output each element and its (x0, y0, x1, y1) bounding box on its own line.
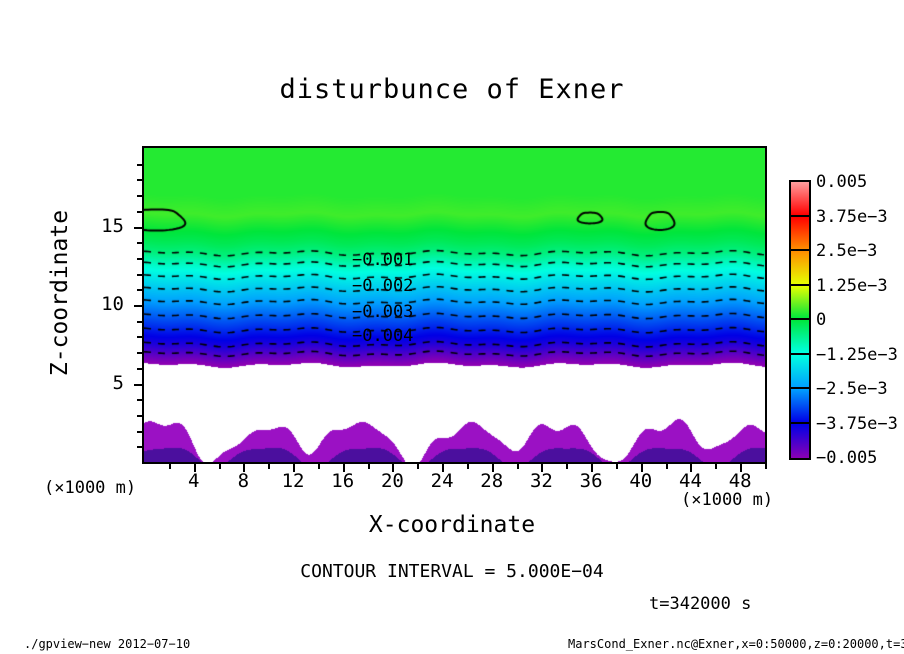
y-tick-minor (137, 431, 142, 433)
page-title: disturbunce of Exner (0, 74, 904, 105)
y-tick-minor (137, 164, 142, 166)
colorbar-tick-label: −0.005 (816, 448, 877, 468)
footer-source-text: MarsCond_Exner.nc@Exner,x=0:50000,z=0:20… (568, 637, 904, 651)
y-tick-label: 15 (78, 215, 124, 237)
contour-field-canvas (144, 148, 765, 462)
colorbar-tick-label: −3.75e−3 (816, 414, 898, 434)
colorbar (789, 180, 811, 460)
colorbar-tick-label: −1.25e−3 (816, 345, 898, 365)
colorbar-segment (791, 286, 809, 321)
x-units-label-right: (×1000 m) (681, 490, 773, 510)
x-tick-minor (616, 464, 618, 469)
y-axis-title: Z-coordinate (47, 193, 73, 393)
y-tick-major (134, 305, 142, 307)
contour-interval-text: CONTOUR INTERVAL = 5.000E−04 (0, 561, 904, 582)
x-tick-label: 16 (318, 470, 368, 492)
y-tick-minor (137, 258, 142, 260)
x-tick-minor (169, 464, 171, 469)
x-axis-title: X-coordinate (0, 512, 904, 538)
x-tick-label: 44 (665, 470, 715, 492)
x-tick-label: 32 (516, 470, 566, 492)
y-tick-minor (137, 211, 142, 213)
colorbar-segment (791, 424, 809, 459)
x-tick-minor (368, 464, 370, 469)
x-tick-label: 4 (169, 470, 219, 492)
y-axis-ticks (132, 146, 142, 464)
colorbar-segment (791, 251, 809, 286)
y-tick-minor (137, 274, 142, 276)
y-tick-minor (137, 352, 142, 354)
y-tick-minor (137, 446, 142, 448)
y-tick-minor (137, 399, 142, 401)
y-tick-major (134, 227, 142, 229)
y-tick-minor (137, 336, 142, 338)
x-tick-label: 40 (616, 470, 666, 492)
x-units-label-left: (×1000 m) (44, 478, 136, 498)
colorbar-segment (791, 182, 809, 217)
contour-label-1: −0.002 (352, 276, 413, 296)
colorbar-tick-label: −2.5e−3 (816, 379, 888, 399)
x-tick-label: 48 (715, 470, 765, 492)
x-tick-label: 36 (566, 470, 616, 492)
colorbar-tick-label: 0 (816, 310, 826, 330)
x-tick-minor (467, 464, 469, 469)
contour-plot-area: −0.001 −0.002 −0.003 −0.004 (142, 146, 767, 464)
y-tick-minor (137, 368, 142, 370)
colorbar-segment (791, 320, 809, 355)
x-tick-minor (517, 464, 519, 469)
y-tick-minor (137, 179, 142, 181)
y-tick-minor (137, 415, 142, 417)
x-tick-minor (666, 464, 668, 469)
x-tick-label: 8 (218, 470, 268, 492)
colorbar-segment (791, 217, 809, 252)
contour-label-0: −0.001 (352, 250, 413, 270)
x-tick-label: 24 (417, 470, 467, 492)
x-axis-ticklabels: 4812162024283236404448 (142, 470, 767, 496)
x-tick-minor (318, 464, 320, 469)
footer-command-text: ./gpview−new 2012−07−10 (24, 637, 190, 651)
x-tick-minor (219, 464, 221, 469)
x-tick-minor (566, 464, 568, 469)
y-tick-minor (137, 289, 142, 291)
colorbar-tick-label: 3.75e−3 (816, 207, 888, 227)
contour-label-2: −0.003 (352, 302, 413, 322)
x-tick-minor (715, 464, 717, 469)
colorbar-tick-label: 0.005 (816, 172, 867, 192)
x-tick-label: 20 (367, 470, 417, 492)
contour-label-3: −0.004 (352, 326, 413, 346)
x-tick-minor (417, 464, 419, 469)
colorbar-segment (791, 389, 809, 424)
y-axis-ticklabels: 51015 (78, 146, 128, 464)
y-tick-minor (137, 242, 142, 244)
x-tick-minor (765, 464, 767, 469)
y-tick-label: 10 (78, 293, 124, 315)
y-tick-label: 5 (78, 372, 124, 394)
x-tick-label: 28 (467, 470, 517, 492)
y-tick-minor (137, 195, 142, 197)
y-tick-minor (137, 321, 142, 323)
x-tick-minor (268, 464, 270, 469)
time-stamp-text: t=342000 s (649, 594, 751, 614)
colorbar-tick-label: 1.25e−3 (816, 276, 888, 296)
y-tick-major (134, 384, 142, 386)
x-tick-label: 12 (268, 470, 318, 492)
colorbar-segment (791, 355, 809, 390)
colorbar-tick-label: 2.5e−3 (816, 241, 877, 261)
